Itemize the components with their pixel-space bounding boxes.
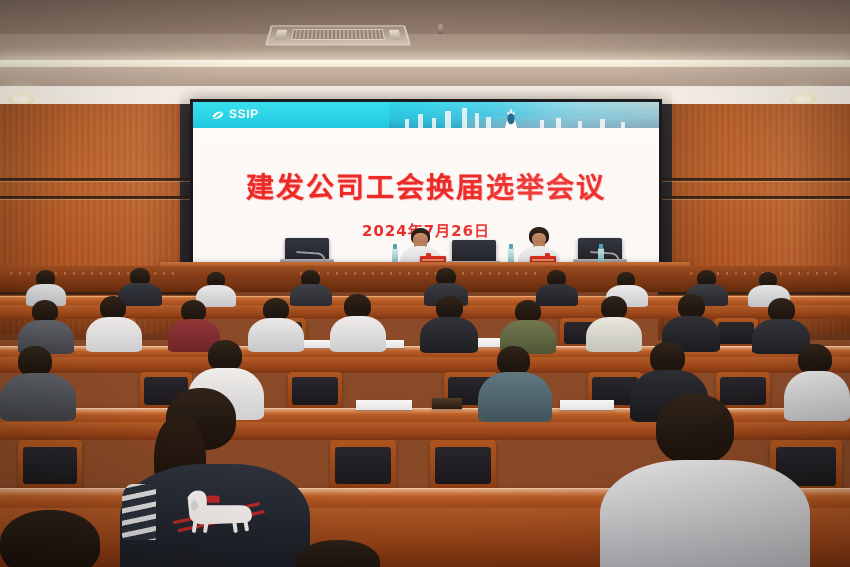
attendee-torso: [86, 317, 142, 352]
skyline-building: [432, 118, 436, 128]
chair-back-pad: [718, 322, 755, 344]
laptop: [452, 240, 496, 262]
chair: [18, 440, 82, 490]
water-bottle: [598, 248, 604, 263]
cove-light-strip: [0, 60, 850, 67]
slide-title: 建发公司工会换届选举会议: [193, 166, 659, 206]
sleeve-stripes: [122, 484, 156, 540]
notebook: [432, 398, 462, 409]
attendee-torso: [330, 316, 386, 352]
attendee: [536, 270, 578, 303]
attendee: [478, 346, 552, 420]
ssip-swoosh-icon: [211, 108, 225, 120]
skyline-building: [405, 119, 409, 128]
attendee-grey-shirt: [600, 394, 810, 567]
ceiling-beam-shadow: [0, 0, 850, 34]
ssip-logo-text: SSIP: [229, 107, 259, 121]
attendee: [420, 296, 478, 352]
attendee-head: [0, 510, 100, 567]
conference-room-photo: SSIP 建发公司工会换届选举会议 2024年7月26日: [0, 0, 850, 567]
attendee: [86, 296, 142, 350]
table-trim: [300, 272, 540, 275]
ac-grille: [291, 29, 385, 40]
skyline-building: [540, 120, 544, 128]
wall-reveal-highlight: [0, 181, 202, 182]
attendee: [330, 294, 386, 350]
water-bottle: [392, 248, 398, 263]
wall-reveal-highlight: [658, 199, 850, 200]
slide-header-banner: SSIP: [193, 102, 659, 128]
chair-back-pad: [23, 447, 77, 484]
skyline-building: [486, 117, 491, 128]
attendee-head: [296, 540, 380, 567]
paper: [356, 400, 412, 410]
wall-reveal-highlight: [0, 199, 202, 200]
attendee: [0, 510, 120, 567]
attendee: [286, 540, 406, 567]
skyline-building: [600, 119, 605, 128]
ac-vent-left: [275, 30, 288, 40]
ssip-logo: SSIP: [211, 107, 259, 121]
chair: [430, 440, 496, 490]
city-skyline-graphic: [389, 102, 659, 128]
attendee-dog-shirt: [120, 388, 310, 567]
attendee-torso: [600, 460, 810, 567]
chair-back-pad: [435, 447, 490, 484]
chair-back-pad: [335, 447, 390, 484]
attendee: [0, 346, 76, 418]
skyline-building: [462, 108, 467, 128]
skyline-building: [418, 114, 423, 128]
sculpture-landmark-icon: [500, 107, 522, 128]
attendee: [26, 270, 66, 302]
skyline-building: [621, 122, 625, 128]
skyline-building: [556, 118, 561, 128]
skyline-building: [445, 111, 451, 128]
attendee-torso: [0, 373, 76, 421]
dachshund-graphic-icon: [170, 484, 266, 536]
desk-row-2-front: [0, 357, 850, 373]
skyline-building: [578, 121, 582, 128]
city-haze: [464, 116, 659, 128]
attendee-torso: [420, 317, 478, 353]
attendee-head: [656, 394, 734, 464]
attendee: [500, 300, 556, 352]
skyline-building: [475, 113, 479, 128]
ceiling-cassette-ac-icon: [265, 25, 411, 45]
sprinkler-head-icon: [438, 24, 443, 33]
chair: [330, 440, 396, 490]
attendee: [18, 300, 74, 352]
ac-vent-right: [389, 30, 402, 40]
wall-reveal-highlight: [658, 181, 850, 182]
attendee-torso: [478, 372, 552, 422]
water-bottle: [508, 248, 514, 263]
